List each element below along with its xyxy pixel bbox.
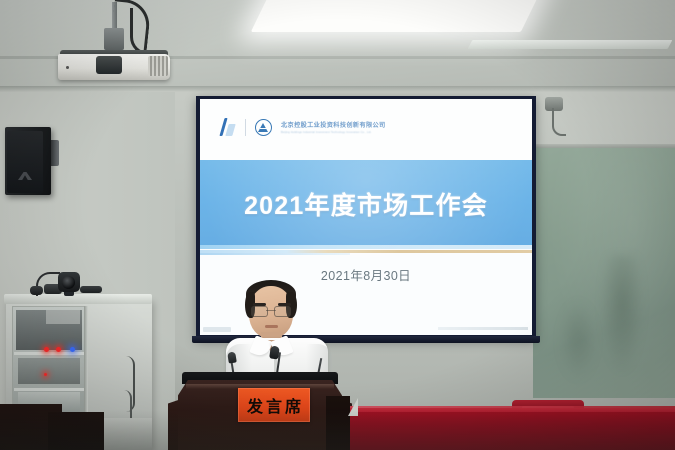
status-led-3 <box>70 347 75 352</box>
presenter-mouth <box>265 325 278 328</box>
status-led-4 <box>44 373 47 376</box>
podium-microphone-center <box>269 345 280 359</box>
logo-text-block: 北京控股工业投资科技创新有限公司 Beijing Holdings Indust… <box>281 120 386 134</box>
conference-room-photo: 北京控股工业投资科技创新有限公司 Beijing Holdings Indust… <box>0 0 675 450</box>
slide-title: 2021年度市场工作会 <box>200 160 532 248</box>
ceiling-light-strip <box>468 40 673 49</box>
slanted-a-logo-icon <box>216 117 236 137</box>
floor-shadow <box>0 410 675 450</box>
slide-divider-rule-accent <box>200 253 350 255</box>
loudspeaker-bracket <box>50 140 59 166</box>
projector-lens <box>96 56 122 74</box>
ceiling-light-panel <box>251 0 543 32</box>
status-led-2 <box>56 347 61 352</box>
rack-equipment-light-panel <box>46 310 80 324</box>
slide-bottom-strip <box>438 327 528 330</box>
triangle-mountain-logo-icon <box>255 119 272 136</box>
projector-arm <box>104 28 124 50</box>
rack-shelf-1 <box>14 352 84 355</box>
chalkboard-smudge-secondary <box>560 300 596 380</box>
rack-equipment-middle <box>18 358 80 384</box>
slide-logo-row: 北京控股工业投资科技创新有限公司 Beijing Holdings Indust… <box>216 117 386 137</box>
loudspeaker-grille <box>7 131 43 193</box>
logo-company-name-en: Beijing Holdings Industrial Investment T… <box>281 131 386 134</box>
rack-shelf-2 <box>14 388 84 391</box>
gooseneck-microphone <box>30 286 43 295</box>
rack-top-device-secondary <box>80 286 102 293</box>
wall-device-cable <box>552 108 566 136</box>
projector-vent <box>148 56 168 76</box>
podium-microphone-left <box>227 351 237 363</box>
eyeglasses-icon <box>251 306 291 315</box>
projector-indicator-dot <box>66 66 69 69</box>
camera-lens-icon <box>62 276 75 289</box>
logo-divider <box>245 119 246 136</box>
rack-top-surface <box>4 294 152 304</box>
projector-cable-loop <box>130 8 149 55</box>
chalkboard-smudge <box>600 255 644 375</box>
slide-band-underglow <box>200 245 532 249</box>
status-led-1 <box>44 347 49 352</box>
logo-company-name-cn: 北京控股工业投资科技创新有限公司 <box>281 120 386 129</box>
